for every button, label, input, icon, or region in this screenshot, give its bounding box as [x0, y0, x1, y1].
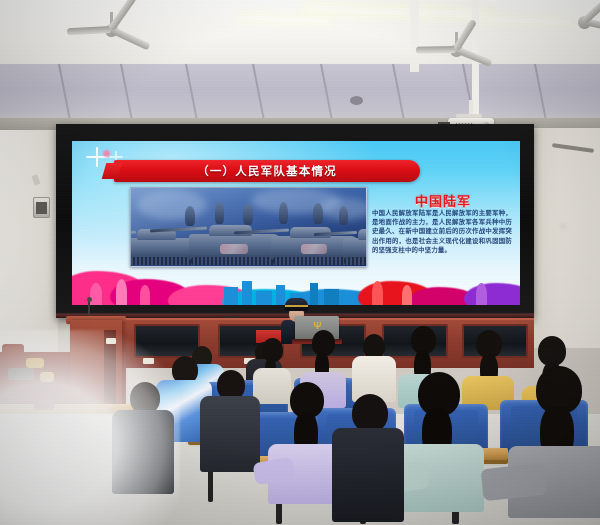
tank-camo	[301, 244, 327, 254]
student-front-5	[508, 366, 600, 516]
splash-crowd	[372, 281, 383, 305]
photo-smoke	[137, 190, 207, 220]
student-head	[352, 394, 388, 432]
overexposed-light-area	[0, 330, 180, 525]
ceiling-fan-1	[72, 12, 150, 48]
splash-crowd	[402, 285, 412, 305]
right-wall	[534, 128, 600, 348]
photo-soldier	[339, 206, 348, 225]
slide-section-heading: 中国陆军	[372, 191, 514, 210]
fan-blade	[416, 46, 456, 54]
tank-turret	[358, 229, 367, 240]
fan-blade	[455, 46, 493, 67]
splash-crowd	[90, 283, 102, 305]
ceiling-hole	[350, 96, 363, 105]
student-front-2	[200, 370, 260, 470]
photo-soldier	[313, 203, 323, 224]
tank-formation-photo	[130, 187, 367, 267]
tank-barrel	[150, 227, 207, 233]
student-torso	[332, 428, 404, 522]
student-arm	[481, 463, 548, 502]
ceiling-fan-3	[560, 10, 600, 38]
tank-tracks	[344, 257, 367, 265]
slide-body-text: 中国人民解放军陆军是人民解放军的主要军种，是地面作战的主力，是人民解放军各军兵种…	[372, 209, 512, 255]
splash-skyline	[224, 287, 238, 305]
splash-crowd	[140, 285, 150, 305]
photo-soldier	[243, 204, 253, 225]
tank-camo	[220, 244, 248, 254]
tank-tracks	[191, 257, 279, 265]
photo-tank	[189, 234, 281, 260]
photo-soldier	[215, 202, 224, 224]
slide-title-banner: （一）人民军队基本情况	[114, 160, 420, 182]
presenter-cap-brim	[284, 307, 309, 311]
photo-tank	[343, 238, 367, 260]
ceiling-fan-2	[420, 32, 492, 64]
presentation-slide[interactable]: （一）人民军队基本情况	[72, 141, 520, 305]
student-front-6	[332, 394, 404, 522]
tank-barrel	[130, 231, 136, 237]
splash-blob	[464, 283, 520, 305]
splash-crowd	[476, 283, 487, 305]
fan-blade	[67, 26, 111, 35]
splash-crowd	[116, 279, 127, 305]
splash-skyline	[324, 289, 339, 305]
slide-title-text: （一）人民军队基本情况	[114, 160, 420, 182]
lecture-hall-photo: （一）人民军队基本情况	[0, 0, 600, 525]
ceiling-column	[410, 0, 419, 72]
splash-skyline	[242, 281, 252, 305]
fan-blade	[110, 26, 151, 50]
student-front-4	[392, 372, 484, 510]
photo-soldier	[279, 202, 288, 224]
splash-skyline	[256, 291, 272, 305]
wall-control-box[interactable]	[33, 197, 50, 218]
wall-smudge	[560, 224, 566, 228]
photo-soldier	[185, 206, 195, 226]
student-torso	[200, 396, 260, 472]
